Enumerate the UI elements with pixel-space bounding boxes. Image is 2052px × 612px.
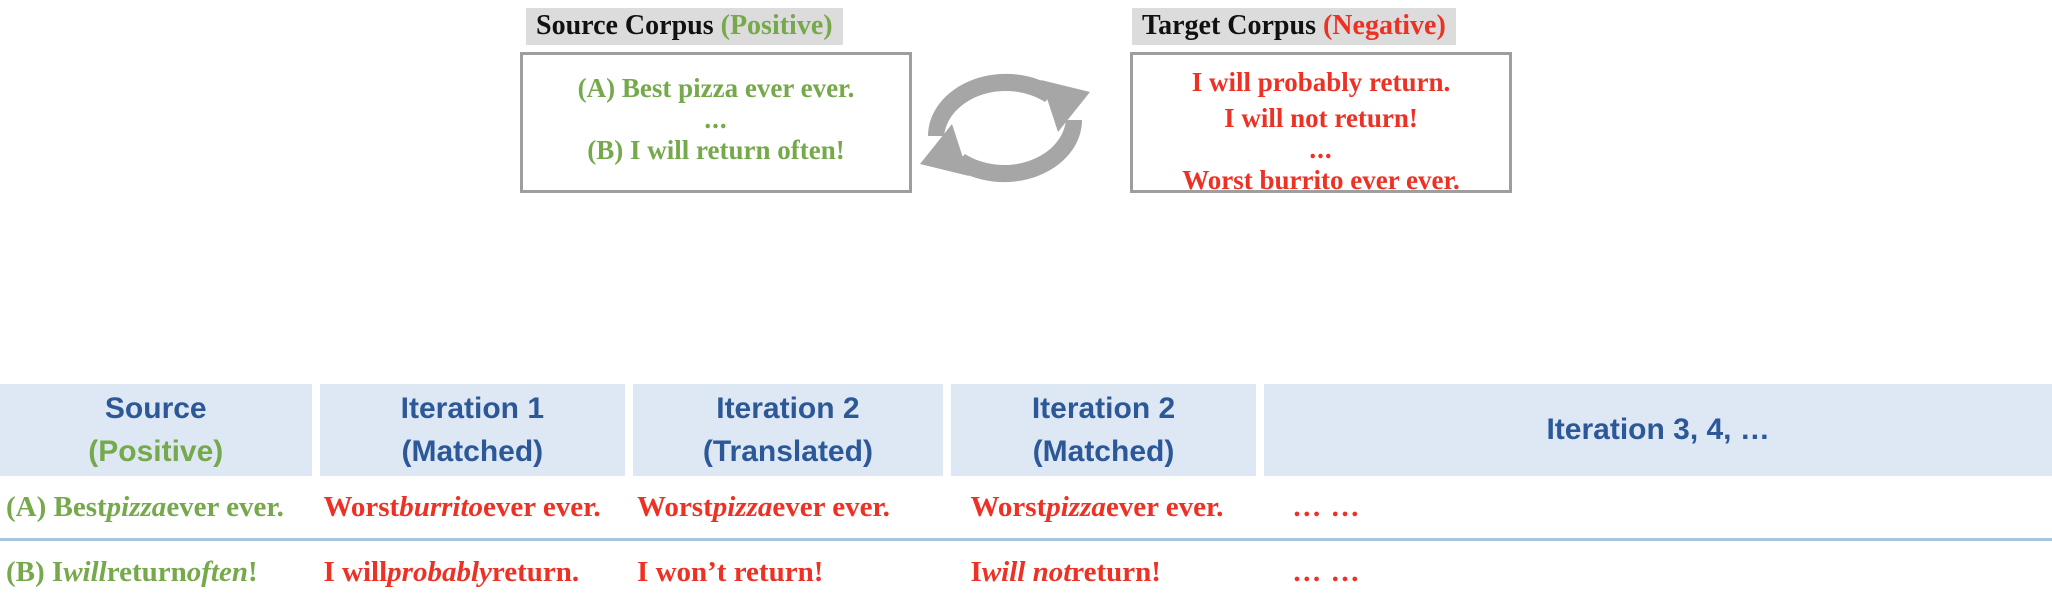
table-header-source-line1: Source [105, 387, 207, 431]
corpus-cycle-diagram: Source Corpus (Positive) (A) Best pizza … [0, 0, 2052, 280]
table-cell: Worst pizza ever ever. [951, 491, 1257, 524]
iteration-results-table: Source (Positive) Iteration 1 (Matched) … [0, 384, 2052, 603]
target-corpus-line-2: I will not return! [1133, 101, 1509, 137]
target-corpus-line-1: I will probably return. [1133, 65, 1509, 101]
table-cell: … … [1264, 556, 2052, 589]
emphasized-token: burrito [399, 491, 483, 524]
target-corpus-line-3: ... [1133, 137, 1509, 163]
table-cell: (B) I will return often! [0, 556, 312, 589]
emphasized-token: pizza [107, 491, 167, 524]
cell-text: return [107, 556, 187, 589]
table-cell: I will not return! [951, 556, 1257, 589]
target-corpus-caption: Target Corpus (Negative) [1132, 8, 1456, 45]
table-cell: I will probably return. [320, 556, 626, 589]
table-header-iteration-more: Iteration 3, 4, … [1264, 384, 2052, 476]
cell-text: Worst [637, 491, 713, 524]
table-cell: I won’t return! [633, 556, 943, 589]
emphasized-token: often [187, 556, 248, 589]
target-corpus-caption-main: Target Corpus [1142, 10, 1316, 41]
table-header-iteration-2-translated: Iteration 2 (Translated) [633, 384, 943, 476]
emphasized-token: probably [387, 556, 492, 589]
table-cell: (A) Best pizza ever ever. [0, 491, 312, 524]
table-header-iteration-more-line1: Iteration 3, 4, … [1546, 408, 1769, 452]
cell-text: ever ever. [772, 491, 890, 524]
table-body: (A) Best pizza ever ever.Worst burrito e… [0, 476, 2052, 603]
source-corpus-caption-main: Source Corpus [536, 10, 714, 41]
table-header-iteration-2-translated-line2: (Translated) [703, 430, 873, 474]
source-corpus-line-3: (B) I will return often! [523, 133, 909, 169]
table-row: (A) Best pizza ever ever.Worst burrito e… [0, 476, 2052, 538]
table-row: (B) I will return often!I will probably … [0, 541, 2052, 603]
cycle-arrows-icon [905, 48, 1105, 208]
source-corpus-caption: Source Corpus (Positive) [526, 8, 843, 45]
source-corpus-group: Source Corpus (Positive) (A) Best pizza … [520, 8, 920, 193]
cell-text: … … [1292, 491, 1360, 524]
cell-text: I won’t return! [637, 556, 823, 589]
emphasized-token: pizza [1046, 491, 1106, 524]
cell-text: ever ever. [1106, 491, 1224, 524]
cell-text: ever ever. [483, 491, 601, 524]
table-header-source: Source (Positive) [0, 384, 312, 476]
source-corpus-caption-polarity: (Positive) [721, 10, 833, 41]
emphasized-token: pizza [713, 491, 773, 524]
cell-text: return. [492, 556, 579, 589]
table-header-iteration-1: Iteration 1 (Matched) [320, 384, 626, 476]
source-corpus-box: (A) Best pizza ever ever. ... (B) I will… [520, 52, 912, 193]
cell-text: ever ever. [166, 491, 284, 524]
cell-text: I [971, 556, 982, 589]
table-header-iteration-1-line2: (Matched) [402, 430, 544, 474]
cell-text: Worst [971, 491, 1047, 524]
source-corpus-line-1: (A) Best pizza ever ever. [523, 71, 909, 107]
cell-text: (A) Best [6, 491, 107, 524]
table-cell: … … [1264, 491, 2052, 524]
cell-text: return! [1071, 556, 1161, 589]
target-corpus-line-4: Worst burrito ever ever. [1133, 163, 1509, 199]
target-corpus-box: I will probably return. I will not retur… [1130, 52, 1512, 193]
cell-text: … … [1292, 556, 1360, 589]
table-header-iteration-2-matched-line2: (Matched) [1033, 430, 1175, 474]
table-header-iteration-2-translated-line1: Iteration 2 [716, 387, 859, 431]
table-header-iteration-1-line1: Iteration 1 [401, 387, 544, 431]
cell-text: (B) I [6, 556, 63, 589]
cell-text: Worst [324, 491, 400, 524]
source-corpus-line-2: ... [523, 107, 909, 133]
table-header-iteration-2-matched: Iteration 2 (Matched) [951, 384, 1257, 476]
emphasized-token: will not [982, 556, 1071, 589]
target-corpus-group: Target Corpus (Negative) I will probably… [1130, 8, 1520, 193]
cell-text: ! [248, 556, 258, 589]
emphasized-token: will [63, 556, 107, 589]
cell-text: I will [324, 556, 388, 589]
table-header-row: Source (Positive) Iteration 1 (Matched) … [0, 384, 2052, 476]
table-header-source-line2: (Positive) [88, 430, 223, 474]
table-cell: Worst burrito ever ever. [320, 491, 626, 524]
target-corpus-caption-polarity: (Negative) [1323, 10, 1446, 41]
table-header-iteration-2-matched-line1: Iteration 2 [1032, 387, 1175, 431]
table-cell: Worst pizza ever ever. [633, 491, 943, 524]
